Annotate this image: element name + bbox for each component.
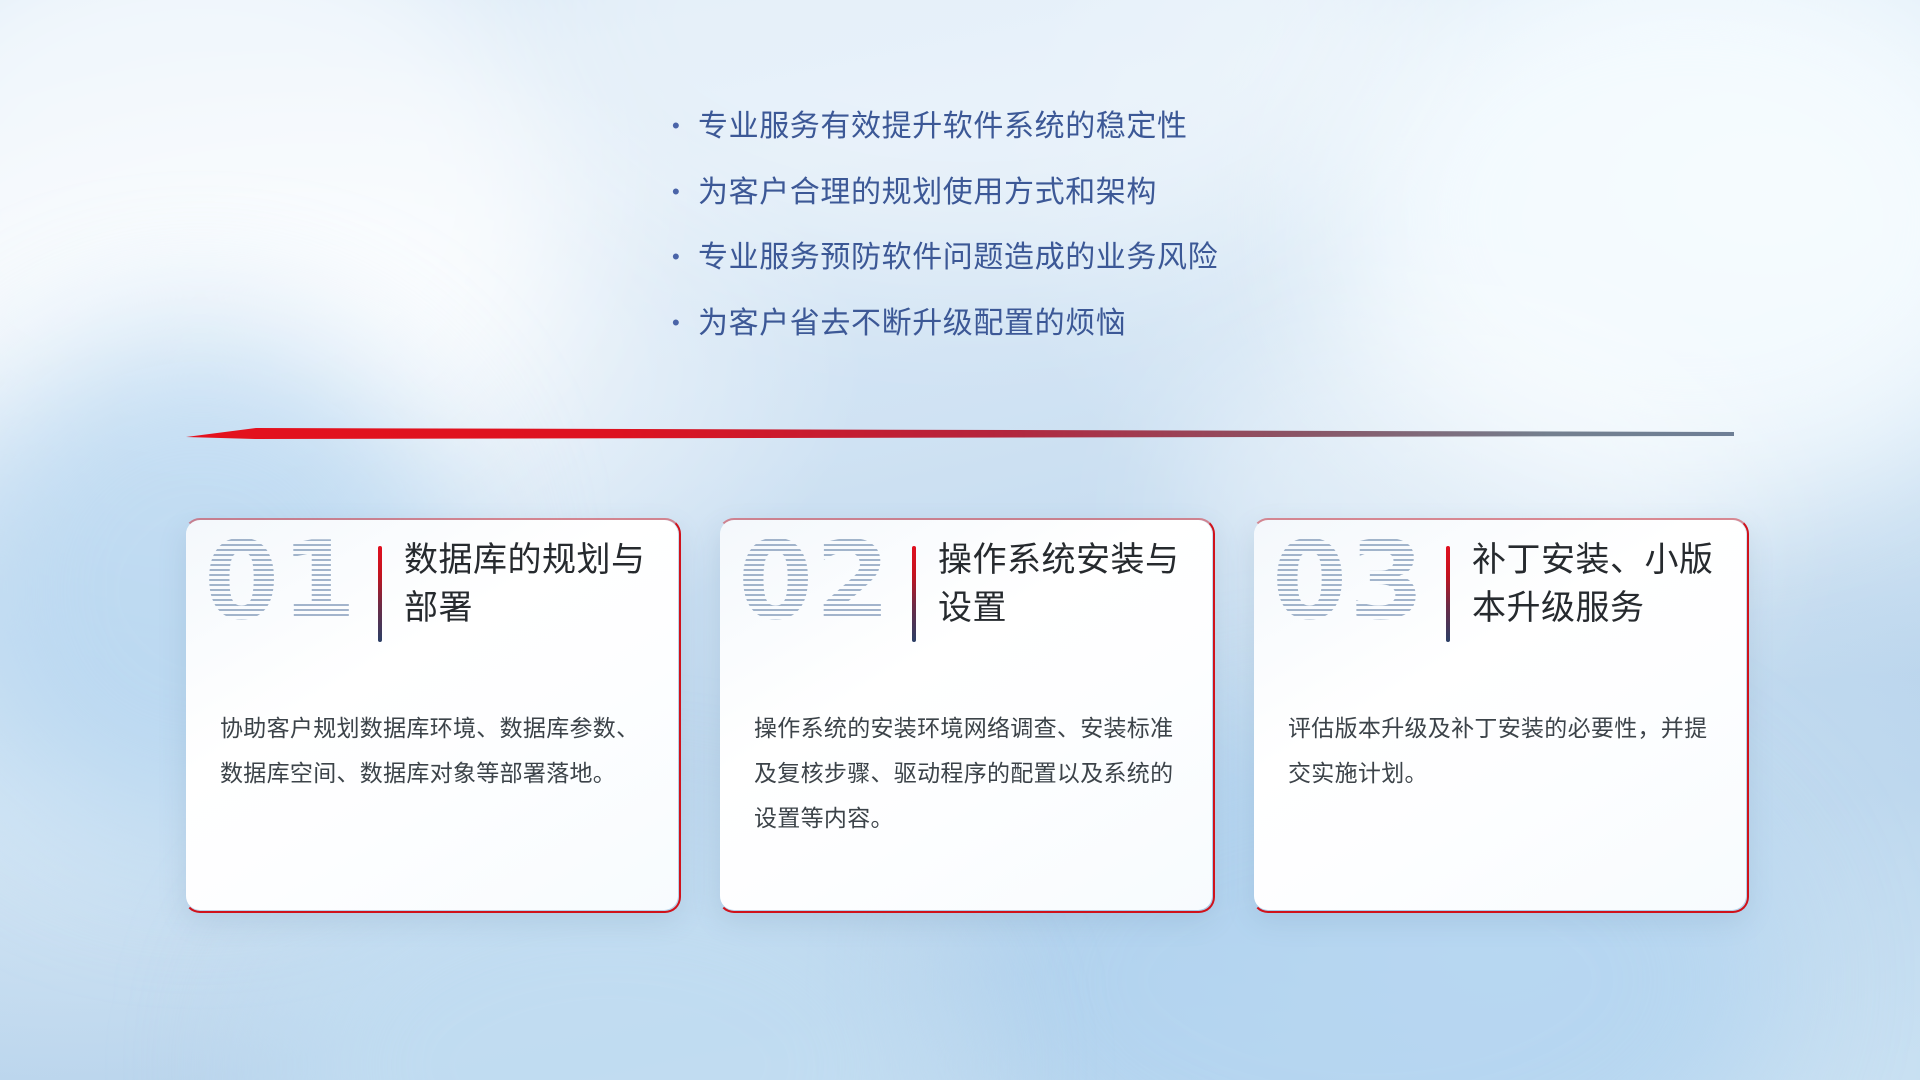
card-title: 数据库的规划与部署: [404, 536, 662, 633]
card-body-text: 操作系统的安装环境网络调查、安装标准及复核步骤、驱动程序的配置以及系统的设置等内…: [754, 706, 1186, 841]
card-number-watermark: 02: [738, 528, 892, 636]
list-item: • 为客户合理的规划使用方式和架构: [672, 174, 1432, 212]
bullet-dot-icon: •: [672, 246, 698, 268]
card-header: 02 操作系统安装与设置: [720, 520, 1212, 688]
card-number-watermark: 01: [204, 528, 358, 636]
list-item: • 专业服务有效提升软件系统的稳定性: [672, 108, 1432, 146]
card-body-text: 评估版本升级及补丁安装的必要性，并提交实施计划。: [1288, 706, 1720, 796]
bullet-text: 为客户省去不断升级配置的烦恼: [698, 305, 1126, 343]
service-card-group: 01 数据库的规划与部署 协助客户规划数据库环境、数据库参数、数据库空间、数据库…: [186, 520, 1746, 910]
list-item: • 专业服务预防软件问题造成的业务风险: [672, 239, 1432, 277]
benefits-bullet-list: • 专业服务有效提升软件系统的稳定性 • 为客户合理的规划使用方式和架构 • 专…: [672, 108, 1432, 370]
card-header: 01 数据库的规划与部署: [186, 520, 678, 688]
bullet-text: 专业服务预防软件问题造成的业务风险: [698, 239, 1218, 277]
card-title: 操作系统安装与设置: [938, 536, 1196, 633]
service-card-02[interactable]: 02 操作系统安装与设置 操作系统的安装环境网络调查、安装标准及复核步骤、驱动程…: [720, 520, 1212, 910]
bullet-text: 专业服务有效提升软件系统的稳定性: [698, 108, 1188, 146]
list-item: • 为客户省去不断升级配置的烦恼: [672, 305, 1432, 343]
title-accent-bar: [378, 546, 382, 642]
bullet-dot-icon: •: [672, 115, 698, 137]
card-title: 补丁安装、小版本升级服务: [1472, 536, 1730, 633]
title-accent-bar: [912, 546, 916, 642]
bullet-text: 为客户合理的规划使用方式和架构: [698, 174, 1157, 212]
card-header: 03 补丁安装、小版本升级服务: [1254, 520, 1746, 688]
card-number-watermark: 03: [1272, 528, 1426, 636]
bullet-dot-icon: •: [672, 181, 698, 203]
bullet-dot-icon: •: [672, 312, 698, 334]
title-accent-bar: [1446, 546, 1450, 642]
service-card-01[interactable]: 01 数据库的规划与部署 协助客户规划数据库环境、数据库参数、数据库空间、数据库…: [186, 520, 678, 910]
card-body-text: 协助客户规划数据库环境、数据库参数、数据库空间、数据库对象等部署落地。: [220, 706, 652, 796]
service-card-03[interactable]: 03 补丁安装、小版本升级服务 评估版本升级及补丁安装的必要性，并提交实施计划。: [1254, 520, 1746, 910]
tapered-rule-icon: [186, 424, 1734, 446]
slide-canvas: • 专业服务有效提升软件系统的稳定性 • 为客户合理的规划使用方式和架构 • 专…: [0, 0, 1920, 1080]
section-divider: [186, 424, 1734, 446]
